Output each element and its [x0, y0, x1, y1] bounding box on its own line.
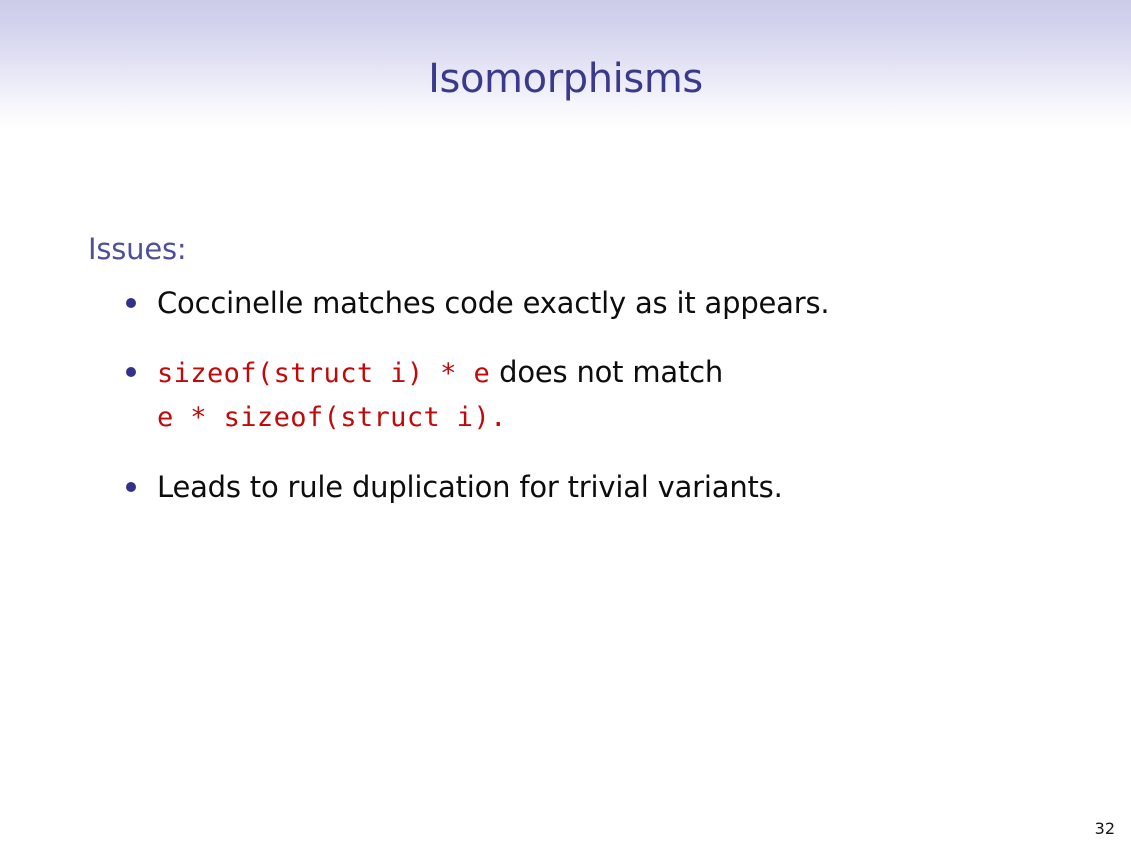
page-number: 32: [1095, 819, 1115, 838]
list-item: sizeof(struct i) * e does not match e * …: [120, 351, 1020, 439]
code-snippet-sizeof-first: sizeof(struct i) * e: [157, 358, 490, 389]
bullet-dot-icon: [126, 482, 136, 492]
list-item-text: Leads to rule duplication for trivial va…: [157, 470, 783, 504]
list-item-text: does not match: [490, 355, 723, 389]
list-item-text: Coccinelle matches code exactly as it ap…: [157, 286, 829, 320]
issues-label: Issues:: [88, 232, 186, 266]
list-item: Coccinelle matches code exactly as it ap…: [120, 282, 1020, 324]
code-snippet-line-two: e * sizeof(struct i).: [157, 397, 1020, 439]
code-snippet-period: .: [490, 402, 507, 433]
slide: Isomorphisms Issues: Coccinelle matches …: [0, 0, 1131, 848]
list-item: Leads to rule duplication for trivial va…: [120, 466, 1020, 508]
bullet-dot-icon: [126, 298, 136, 308]
issues-bullet-list: Coccinelle matches code exactly as it ap…: [120, 282, 1020, 508]
bullet-dot-icon: [126, 367, 136, 377]
slide-content: Issues: Coccinelle matches code exactly …: [0, 0, 1131, 848]
code-snippet-sizeof-second: e * sizeof(struct i): [157, 402, 490, 433]
